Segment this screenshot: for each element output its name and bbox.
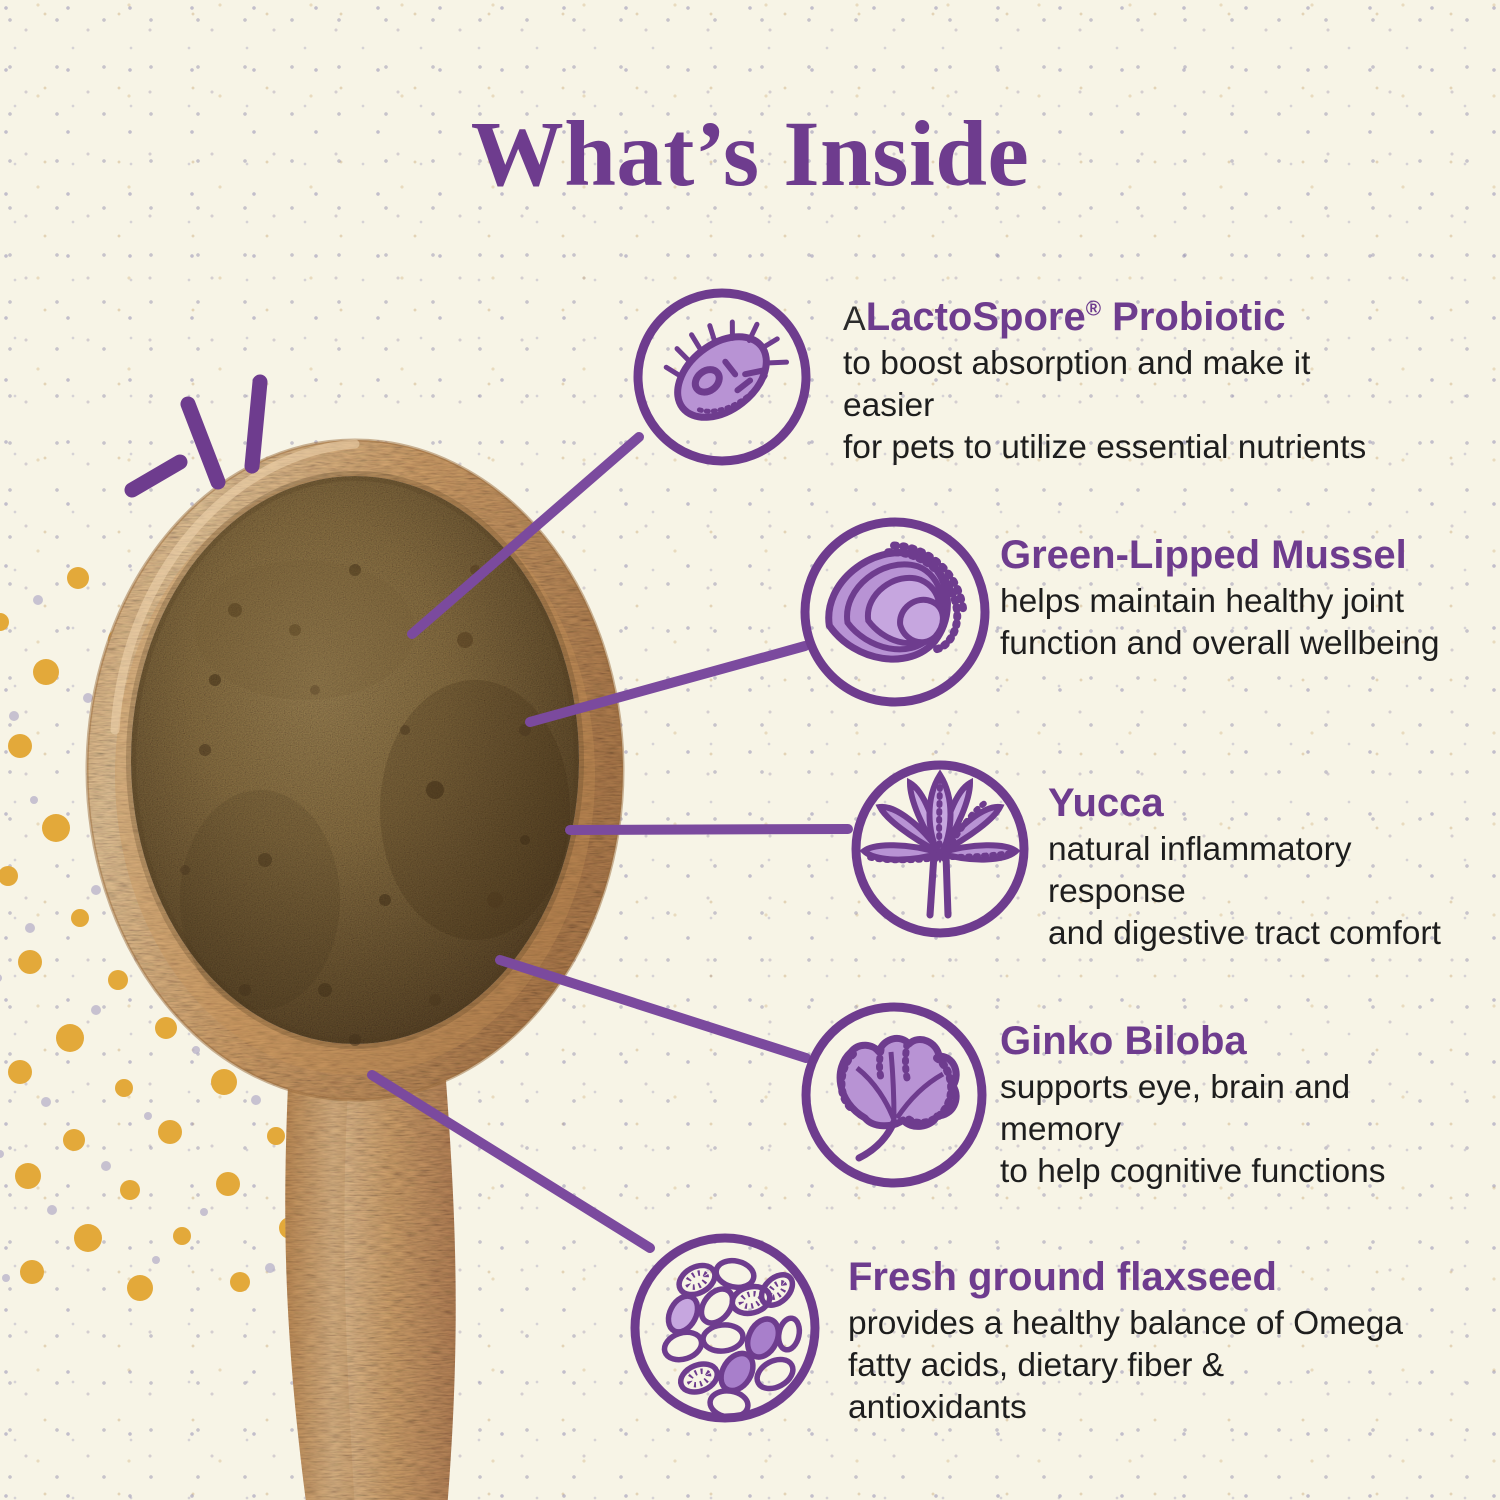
ginkgo-leaf-icon bbox=[797, 998, 992, 1193]
mussel-icon bbox=[795, 512, 995, 712]
callout-body-ginko: supports eye, brain and memory to help c… bbox=[1000, 1067, 1460, 1193]
callout-heading-flaxseed: Fresh ground flaxseed bbox=[848, 1256, 1408, 1299]
callout-body-mussel: helps maintain healthy joint function an… bbox=[1000, 581, 1460, 665]
yucca-plant-icon bbox=[848, 757, 1033, 942]
callout-heading-yucca: Yucca bbox=[1048, 782, 1488, 825]
wooden-spoon-with-ground-flaxseed bbox=[55, 430, 695, 1500]
callout-heading-tail: Probiotic bbox=[1101, 295, 1285, 339]
flaxseed-cluster-icon bbox=[625, 1228, 825, 1428]
callout-ginko-biloba: Ginko Biloba supports eye, brain and mem… bbox=[1000, 1020, 1460, 1193]
callout-lactospore-probiotic: ALactoSpore® Probiotic to boost absorpti… bbox=[843, 296, 1403, 469]
page-title: What’s Inside bbox=[0, 108, 1500, 201]
callout-heading-lactospore: ALactoSpore® Probiotic bbox=[843, 296, 1403, 339]
bacteria-icon bbox=[630, 285, 815, 470]
callout-green-lipped-mussel: Green-Lipped Mussel helps maintain healt… bbox=[1000, 534, 1460, 665]
callout-yucca: Yucca natural inflammatory response and … bbox=[1048, 782, 1488, 955]
callout-body-lactospore: to boost absorption and make it easier f… bbox=[843, 343, 1403, 469]
callout-body-flaxseed: provides a healthy balance of Omega fatt… bbox=[848, 1303, 1408, 1429]
callout-heading-mussel: Green-Lipped Mussel bbox=[1000, 534, 1460, 577]
infographic-canvas: What’s Inside ALactoSpore® Probiotic to … bbox=[0, 0, 1500, 1500]
callout-lead-a: A bbox=[843, 300, 866, 338]
callout-body-yucca: natural inflammatory response and digest… bbox=[1048, 829, 1488, 955]
callout-fresh-ground-flaxseed: Fresh ground flaxseed provides a healthy… bbox=[848, 1256, 1408, 1429]
sparkle-dashes-decoration bbox=[120, 370, 300, 500]
callout-heading-text: LactoSpore bbox=[866, 295, 1086, 339]
registered-mark: ® bbox=[1086, 298, 1101, 321]
callout-heading-ginko: Ginko Biloba bbox=[1000, 1020, 1460, 1063]
